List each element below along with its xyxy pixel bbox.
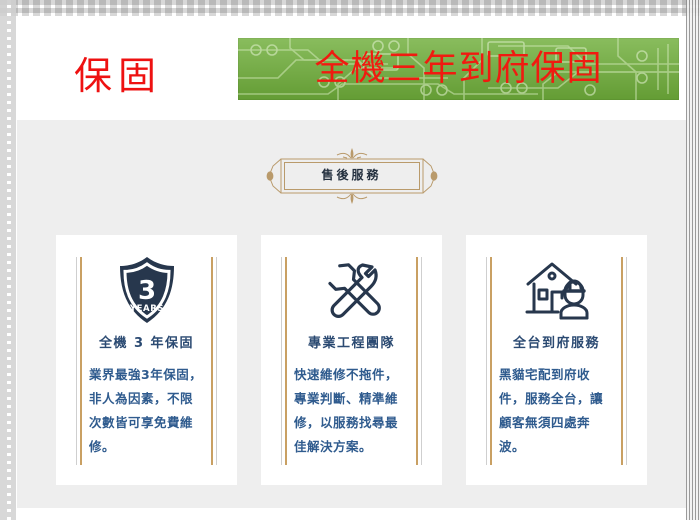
- page-root: 保固: [0, 0, 700, 530]
- page-title: 保固: [74, 56, 162, 96]
- svg-text:3: 3: [137, 276, 155, 306]
- feature-card-body: 快速維修不拖件，專業判斷、精準維修，以服務找尋最佳解決方案。: [294, 363, 409, 459]
- section-title-text: 售後服務: [259, 167, 445, 183]
- house-technician-icon: [466, 255, 647, 325]
- page-border-right-stripes: [686, 0, 700, 530]
- svg-text:YEARS: YEARS: [128, 304, 163, 314]
- promo-banner-text: 全機三年到府保固: [238, 44, 679, 94]
- feature-card-heading: 全台到府服務: [466, 335, 647, 353]
- header: 保固: [17, 18, 686, 112]
- promo-banner: 全機三年到府保固: [238, 38, 679, 100]
- feature-card-warranty[interactable]: 3 YEARS 全機 3 年保固 業界最強3年保固，非人為因素，不限次數皆可享免…: [56, 235, 237, 485]
- feature-card-onsite-service[interactable]: 全台到府服務 黑貓宅配到府收件，服務全台，讓顧客無須四處奔波。: [466, 235, 647, 485]
- feature-card-body: 黑貓宅配到府收件，服務全台，讓顧客無須四處奔波。: [499, 363, 614, 459]
- content-panel: 售後服務 3 YEARS 全機 3 年保固 業界最: [17, 120, 686, 508]
- feature-card-engineering-team[interactable]: 專業工程團隊 快速維修不拖件，專業判斷、精準維修，以服務找尋最佳解決方案。: [261, 235, 442, 485]
- page-border-left-pattern: [0, 0, 16, 530]
- feature-card-heading: 全機 3 年保固: [56, 335, 237, 353]
- section-title-ornament: 售後服務: [259, 148, 445, 204]
- page-border-bottom: [0, 520, 700, 530]
- wrench-screwdriver-icon: [261, 255, 442, 325]
- feature-card-list: 3 YEARS 全機 3 年保固 業界最強3年保固，非人為因素，不限次數皆可享免…: [56, 235, 647, 485]
- feature-card-body: 業界最強3年保固，非人為因素，不限次數皆可享免費維修。: [89, 363, 204, 459]
- shield-3-years-icon: 3 YEARS: [56, 255, 237, 325]
- feature-card-heading: 專業工程團隊: [261, 335, 442, 353]
- page-border-top-pattern: [0, 0, 700, 16]
